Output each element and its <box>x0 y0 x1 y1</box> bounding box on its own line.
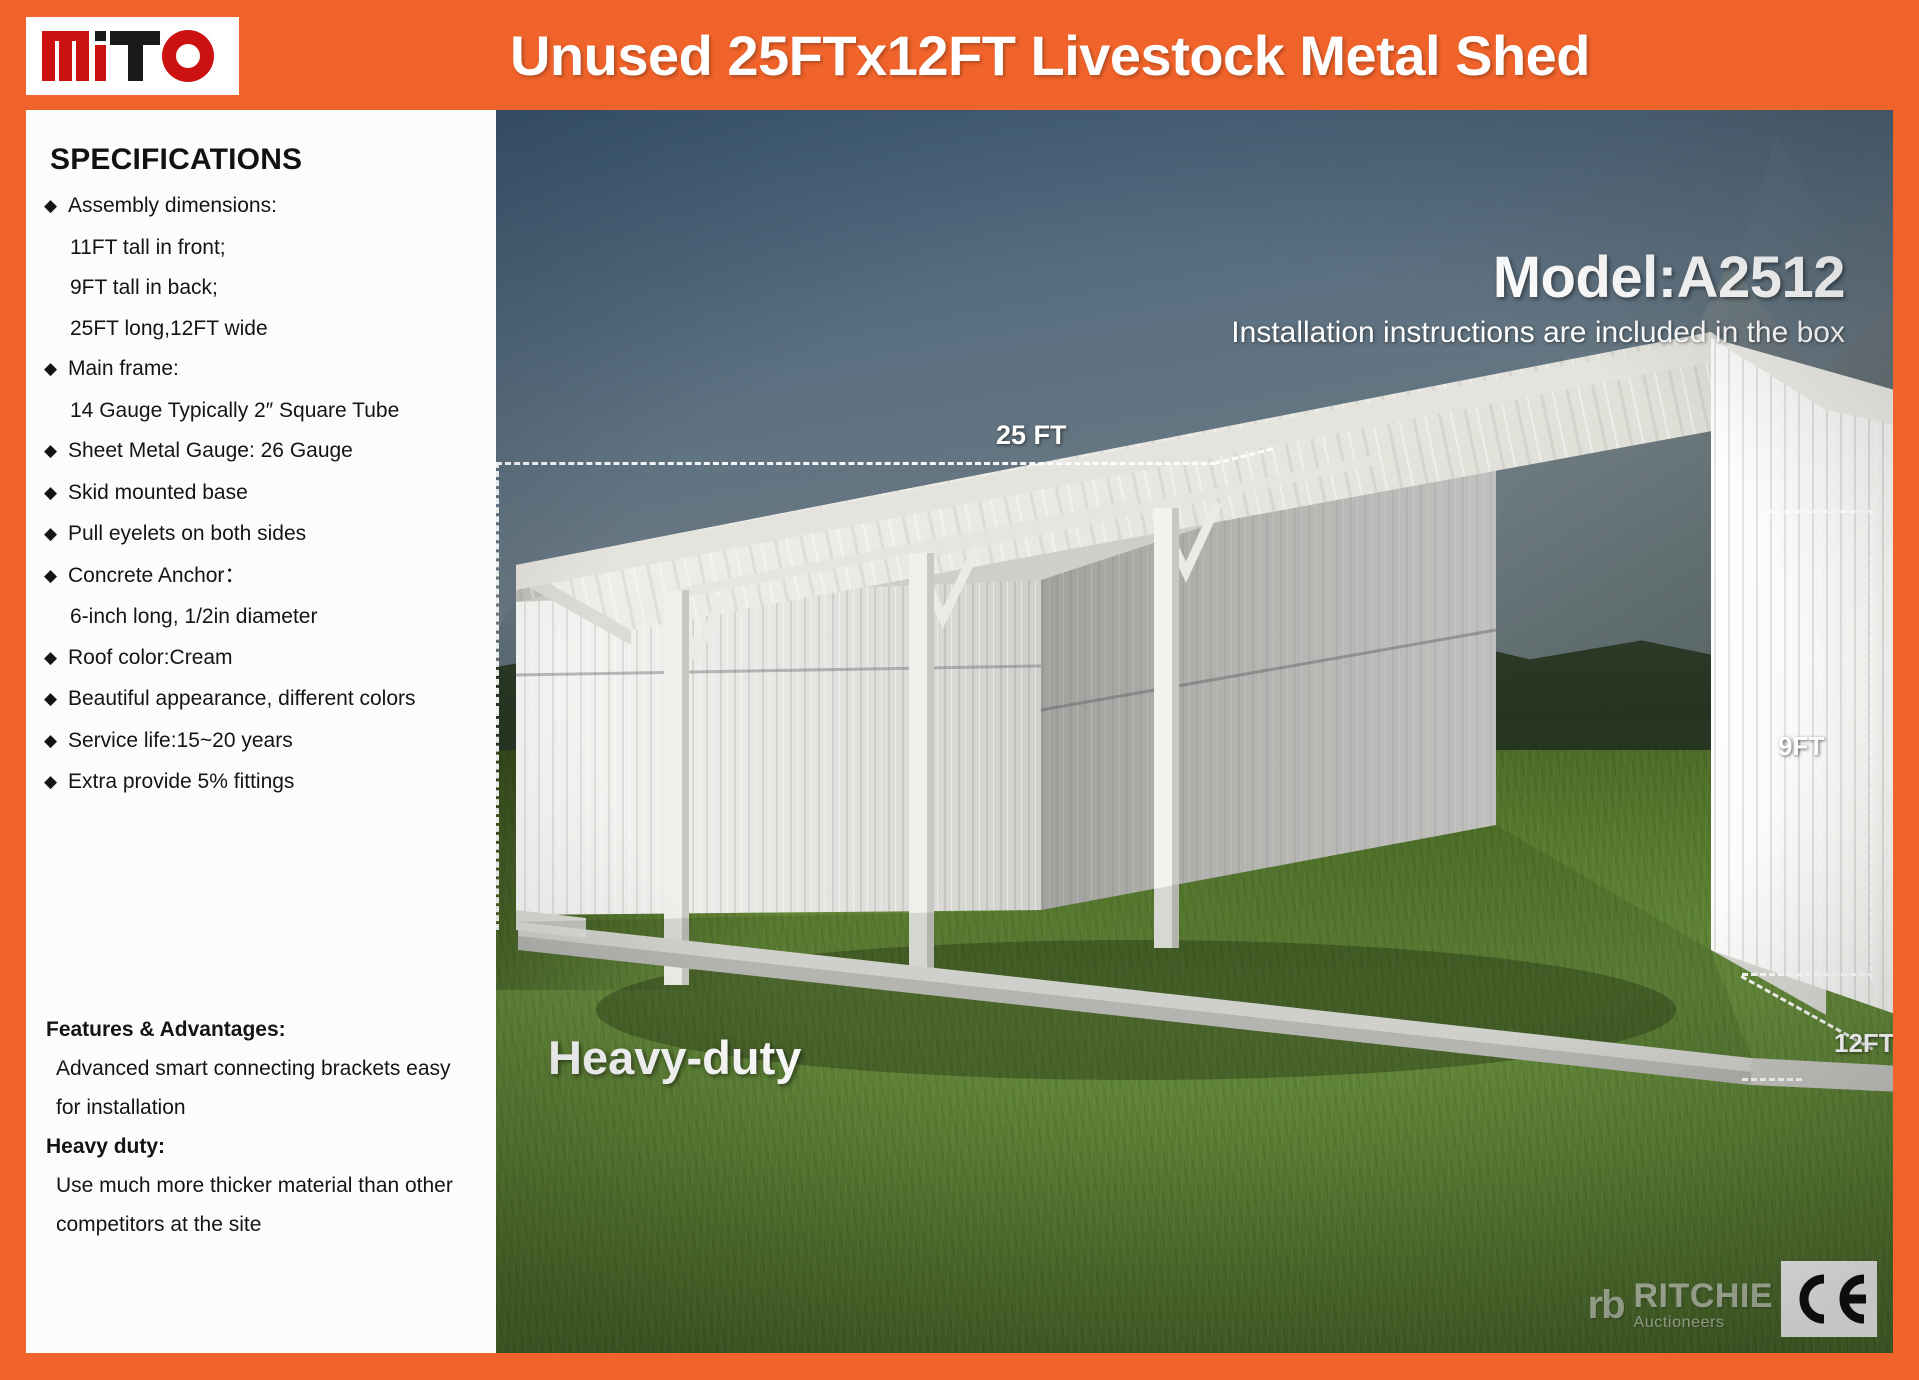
spec-item: 11FT tall in front; <box>44 228 494 269</box>
model-label: Model:A2512 <box>1493 244 1845 311</box>
watermark-brand: RITCHIE <box>1634 1279 1774 1313</box>
ce-mark <box>1781 1261 1877 1337</box>
spec-item-label: Concrete Anchor： <box>68 564 245 587</box>
spec-item: Roof color:Cream <box>44 638 494 680</box>
features-advantages-block: Features & Advantages: Advanced smart co… <box>46 1010 496 1244</box>
heavy-duty-caption: Heavy-duty <box>548 1030 801 1085</box>
product-ad-poster: Unused 25FTx12FT Livestock Metal Shed SP… <box>0 0 1919 1380</box>
heavy-duty-line: Use much more thicker material than othe… <box>46 1166 496 1205</box>
dimension-label-width: 12FT <box>1834 1028 1893 1059</box>
features-heading: Features & Advantages: <box>46 1010 496 1049</box>
spec-item-label: 6-inch long, 1/2in diameter <box>70 605 317 628</box>
dimension-label-length: 25 FT <box>996 420 1067 451</box>
spec-item: 14 Gauge Typically 2″ Square Tube <box>44 391 494 432</box>
product-photo: 25 FT 11FT 9FT 12FT Model:A2512 Installa… <box>496 110 1893 1353</box>
spec-item: 6-inch long, 1/2in diameter <box>44 597 494 638</box>
spec-item-label: Skid mounted base <box>68 481 248 504</box>
ritchie-watermark: rb RITCHIE Auctioneers <box>1588 1279 1774 1331</box>
specifications-list: Assembly dimensions: 11FT tall in front;… <box>44 186 494 804</box>
dimension-guide-front-height <box>496 710 499 930</box>
dimension-guide-back-top <box>1766 510 1874 513</box>
dimension-guide-width-h <box>1742 973 1874 976</box>
spec-item-label: Service life:15~20 years <box>68 729 293 752</box>
spec-item-label: Sheet Metal Gauge: 26 Gauge <box>68 439 353 462</box>
watermark-name-block: RITCHIE Auctioneers <box>1634 1279 1774 1331</box>
page-title: Unused 25FTx12FT Livestock Metal Shed <box>250 0 1850 110</box>
spec-item: Main frame: <box>44 349 494 391</box>
specifications-panel: SPECIFICATIONS Assembly dimensions: 11FT… <box>26 110 496 1353</box>
watermark-subtitle: Auctioneers <box>1634 1315 1774 1331</box>
spec-item-label: Roof color:Cream <box>68 646 233 669</box>
header-bar: Unused 25FTx12FT Livestock Metal Shed <box>0 0 1919 110</box>
rb-logo-icon: rb <box>1588 1283 1624 1328</box>
spec-item: Concrete Anchor： <box>44 556 494 598</box>
dimension-guide-length-left-tick <box>496 462 499 712</box>
spec-item: Extra provide 5% fittings <box>44 762 494 804</box>
spec-item: 9FT tall in back; <box>44 268 494 309</box>
spec-item: 25FT long,12FT wide <box>44 309 494 350</box>
mito-logo-icon <box>40 27 226 85</box>
ce-mark-icon <box>1788 1273 1870 1325</box>
spec-item-label: Assembly dimensions: <box>68 194 277 217</box>
dimension-guide-back-height <box>1870 510 1873 980</box>
spec-item-label: Pull eyelets on both sides <box>68 522 306 545</box>
features-line: for installation <box>46 1088 496 1127</box>
brand-logo <box>26 17 239 95</box>
spec-item: Assembly dimensions: <box>44 186 494 228</box>
installation-note: Installation instructions are included i… <box>1231 316 1845 350</box>
spec-item: Pull eyelets on both sides <box>44 514 494 556</box>
spec-item: Service life:15~20 years <box>44 721 494 763</box>
spec-item-label: 25FT long,12FT wide <box>70 317 268 340</box>
heavy-duty-heading: Heavy duty: <box>46 1127 496 1166</box>
spec-item: Beautiful appearance, different colors <box>44 679 494 721</box>
spec-item: Skid mounted base <box>44 473 494 515</box>
spec-item-label: 14 Gauge Typically 2″ Square Tube <box>70 399 399 422</box>
dimension-label-back-height: 9FT <box>1778 731 1824 762</box>
heavy-duty-line: competitors at the site <box>46 1205 496 1244</box>
spec-item: Sheet Metal Gauge: 26 Gauge <box>44 431 494 473</box>
spec-item-label: Extra provide 5% fittings <box>68 770 294 793</box>
dimension-guide-length <box>496 462 1216 465</box>
features-line: Advanced smart connecting brackets easy <box>46 1049 496 1088</box>
spec-item-label: Main frame: <box>68 357 179 380</box>
dimension-guide-width-base <box>1742 1078 1802 1081</box>
spec-item-label: 9FT tall in back; <box>70 276 218 299</box>
specifications-heading: SPECIFICATIONS <box>50 143 302 177</box>
spec-item-label: 11FT tall in front; <box>70 236 226 259</box>
spec-item-label: Beautiful appearance, different colors <box>68 687 416 710</box>
